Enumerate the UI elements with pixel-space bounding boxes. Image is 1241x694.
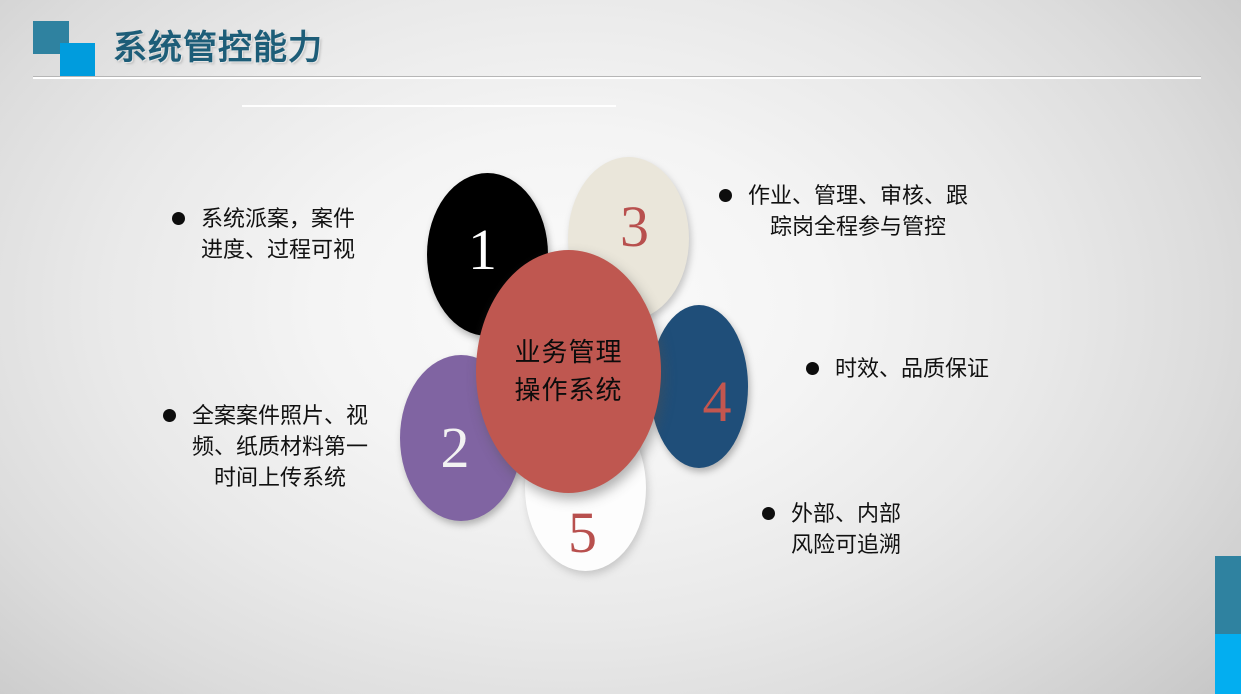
slide-canvas: 系统管控能力 1 3 2 4 5 业务管理 操作系统 系统派案，案件 进度、过程… — [0, 0, 1241, 694]
petal-number-3: 3 — [620, 198, 649, 256]
callout-left-1-text: 系统派案，案件 进度、过程可视 — [201, 203, 355, 265]
center-hub-ellipse[interactable]: 业务管理 操作系统 — [476, 250, 661, 493]
petal-number-5: 5 — [568, 504, 597, 562]
petal-number-2: 2 — [441, 419, 470, 477]
petal-ellipse-4[interactable]: 4 — [650, 305, 748, 468]
bullet-dot-icon — [172, 212, 185, 225]
bullet-dot-icon — [806, 362, 819, 375]
bullet-dot-icon — [163, 409, 176, 422]
callout-right-1-text: 作业、管理、审核、跟 踪岗全程参与管控 — [748, 180, 968, 242]
callout-right-3: 外部、内部 风险可追溯 — [762, 498, 992, 560]
petal-number-4: 4 — [703, 373, 732, 431]
header-square-bright — [60, 43, 95, 77]
callout-left-2-text: 全案案件照片、视 频、纸质材料第一 时间上传系统 — [192, 400, 368, 494]
corner-tab-teal[interactable] — [1215, 556, 1241, 634]
callout-left-2: 全案案件照片、视 频、纸质材料第一 时间上传系统 — [163, 400, 431, 494]
callout-right-3-text: 外部、内部 风险可追溯 — [791, 498, 901, 560]
page-title: 系统管控能力 — [113, 20, 323, 69]
callout-right-1: 作业、管理、审核、跟 踪岗全程参与管控 — [719, 180, 1039, 242]
callout-right-2-text: 时效、品质保证 — [835, 353, 989, 384]
secondary-divider — [242, 105, 616, 107]
hub-label-line2: 操作系统 — [514, 372, 622, 410]
bullet-dot-icon — [719, 189, 732, 202]
petal-number-1: 1 — [468, 221, 497, 279]
callout-left-1: 系统派案，案件 进度、过程可视 — [172, 203, 422, 265]
hub-label-line1: 业务管理 — [514, 334, 622, 372]
header-divider — [33, 76, 1201, 79]
callout-right-2: 时效、品质保证 — [806, 353, 1046, 384]
corner-tab-blue[interactable] — [1215, 634, 1241, 694]
bullet-dot-icon — [762, 507, 775, 520]
